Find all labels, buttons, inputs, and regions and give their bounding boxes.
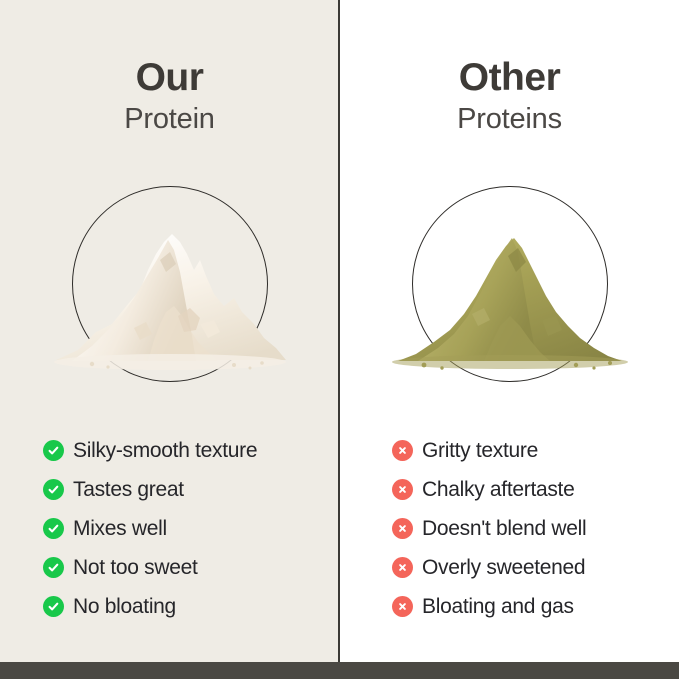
- list-item: Doesn't blend well: [392, 509, 679, 548]
- feature-label: Tastes great: [73, 478, 184, 502]
- left-heading: Our Protein: [0, 58, 339, 134]
- x-circle-icon: [392, 440, 413, 461]
- comparison-infographic: Our Protein: [0, 0, 679, 679]
- list-item: Not too sweet: [43, 548, 339, 587]
- x-circle-icon: [392, 479, 413, 500]
- left-title: Our: [0, 58, 339, 97]
- feature-label: Not too sweet: [73, 556, 198, 580]
- panel-our-protein: Our Protein: [0, 0, 339, 662]
- feature-label: Mixes well: [73, 517, 167, 541]
- left-feature-list: Silky-smooth texture Tastes great Mixes …: [0, 431, 339, 626]
- right-subtitle: Proteins: [340, 105, 679, 134]
- feature-label: No bloating: [73, 595, 176, 619]
- white-protein-powder-mound: [48, 220, 292, 370]
- right-title: Other: [340, 58, 679, 97]
- list-item: Mixes well: [43, 509, 339, 548]
- x-circle-icon: [392, 557, 413, 578]
- left-subtitle: Protein: [0, 105, 339, 134]
- check-circle-icon: [43, 440, 64, 461]
- list-item: Silky-smooth texture: [43, 431, 339, 470]
- list-item: Tastes great: [43, 470, 339, 509]
- right-feature-list: Gritty texture Chalky aftertaste Doesn't…: [340, 431, 679, 626]
- check-circle-icon: [43, 518, 64, 539]
- feature-label: Gritty texture: [422, 439, 538, 463]
- right-heading: Other Proteins: [340, 58, 679, 134]
- list-item: Overly sweetened: [392, 548, 679, 587]
- bottom-bar: [0, 662, 679, 679]
- list-item: No bloating: [43, 587, 339, 626]
- feature-label: Doesn't blend well: [422, 517, 586, 541]
- feature-label: Chalky aftertaste: [422, 478, 574, 502]
- feature-label: Overly sweetened: [422, 556, 585, 580]
- check-circle-icon: [43, 479, 64, 500]
- green-protein-powder-mound: [388, 220, 632, 370]
- x-circle-icon: [392, 518, 413, 539]
- panel-divider: [338, 0, 340, 662]
- feature-label: Bloating and gas: [422, 595, 574, 619]
- list-item: Bloating and gas: [392, 587, 679, 626]
- feature-label: Silky-smooth texture: [73, 439, 257, 463]
- list-item: Chalky aftertaste: [392, 470, 679, 509]
- panel-other-proteins: Other Proteins: [340, 0, 679, 662]
- left-product-circle: [72, 186, 268, 382]
- list-item: Gritty texture: [392, 431, 679, 470]
- right-product-circle: [412, 186, 608, 382]
- check-circle-icon: [43, 596, 64, 617]
- check-circle-icon: [43, 557, 64, 578]
- x-circle-icon: [392, 596, 413, 617]
